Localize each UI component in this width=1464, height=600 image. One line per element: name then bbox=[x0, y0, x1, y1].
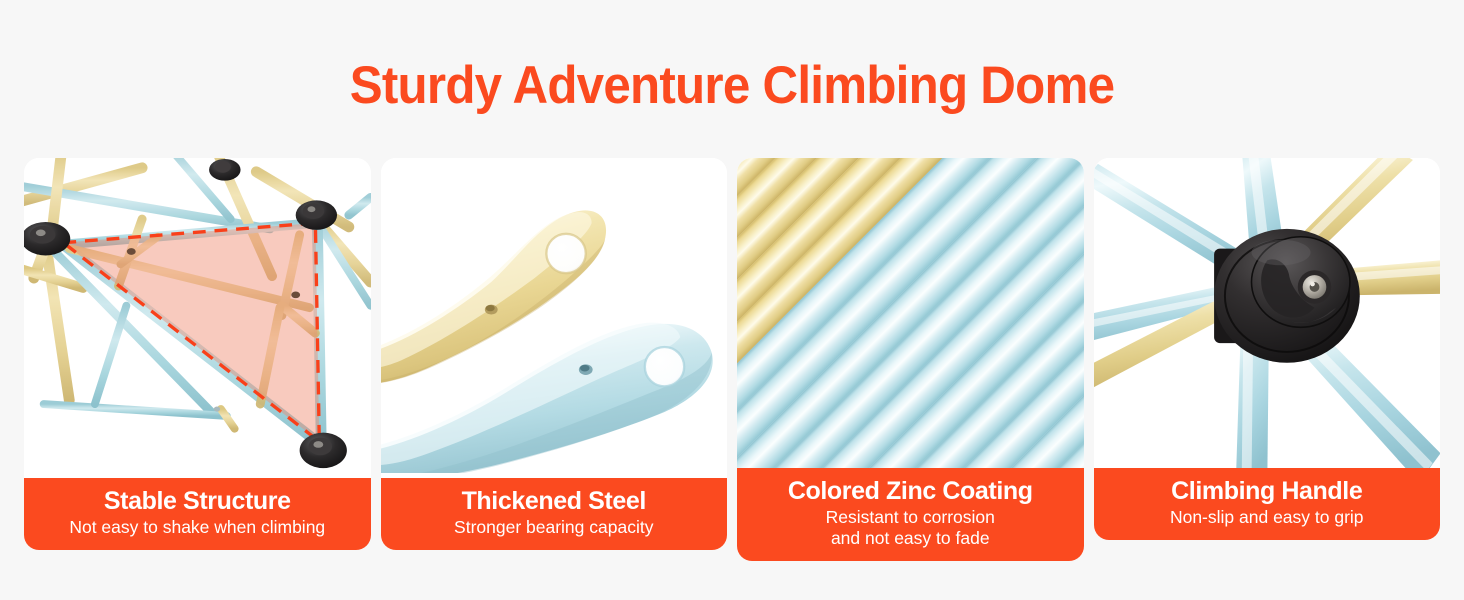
card-subtitle: Resistant to corrosion and not easy to f… bbox=[745, 507, 1076, 549]
dome-frame-illustration bbox=[24, 158, 371, 473]
card-title: Stable Structure bbox=[32, 487, 363, 515]
card-caption: Colored Zinc Coating Resistant to corros… bbox=[737, 468, 1084, 561]
card-subtitle-line: Resistant to corrosion bbox=[745, 507, 1076, 528]
dome-frame-triangle-photo bbox=[24, 158, 371, 478]
feature-card-thickened-steel: Thickened Steel Stronger bearing capacit… bbox=[381, 158, 728, 550]
card-title: Climbing Handle bbox=[1102, 477, 1433, 505]
card-subtitle: Not easy to shake when climbing bbox=[32, 517, 363, 538]
hub-assembly bbox=[1214, 229, 1360, 363]
card-subtitle-line: Non-slip and easy to grip bbox=[1102, 507, 1433, 528]
page-title: Sturdy Adventure Climbing Dome bbox=[51, 58, 1413, 114]
feature-card-colored-zinc-coating: Colored Zinc Coating Resistant to corros… bbox=[737, 158, 1084, 561]
hub-connector-photo bbox=[1094, 158, 1441, 468]
card-caption: Climbing Handle Non-slip and easy to gri… bbox=[1094, 468, 1441, 540]
zinc-coated-tubes-photo bbox=[737, 158, 1084, 468]
card-subtitle-line: Stronger bearing capacity bbox=[389, 517, 720, 538]
hub-connector bbox=[296, 200, 337, 230]
card-caption: Thickened Steel Stronger bearing capacit… bbox=[381, 478, 728, 550]
card-title: Colored Zinc Coating bbox=[745, 477, 1076, 505]
steel-tube-ends-photo bbox=[381, 158, 728, 478]
zinc-tube-stripes-illustration bbox=[737, 158, 1084, 468]
hub-connector-illustration bbox=[1094, 158, 1441, 468]
hub-connector bbox=[300, 433, 347, 468]
card-caption: Stable Structure Not easy to shake when … bbox=[24, 478, 371, 550]
feature-card-row: Stable Structure Not easy to shake when … bbox=[24, 158, 1440, 561]
card-subtitle: Stronger bearing capacity bbox=[389, 517, 720, 538]
card-subtitle-line: and not easy to fade bbox=[745, 528, 1076, 549]
card-subtitle: Non-slip and easy to grip bbox=[1102, 507, 1433, 528]
card-subtitle-line: Not easy to shake when climbing bbox=[32, 517, 363, 538]
card-title: Thickened Steel bbox=[389, 487, 720, 515]
feature-card-stable-structure: Stable Structure Not easy to shake when … bbox=[24, 158, 371, 550]
hub-connector bbox=[209, 159, 241, 181]
feature-card-climbing-handle: Climbing Handle Non-slip and easy to gri… bbox=[1094, 158, 1441, 540]
steel-tube-illustration bbox=[381, 158, 728, 473]
